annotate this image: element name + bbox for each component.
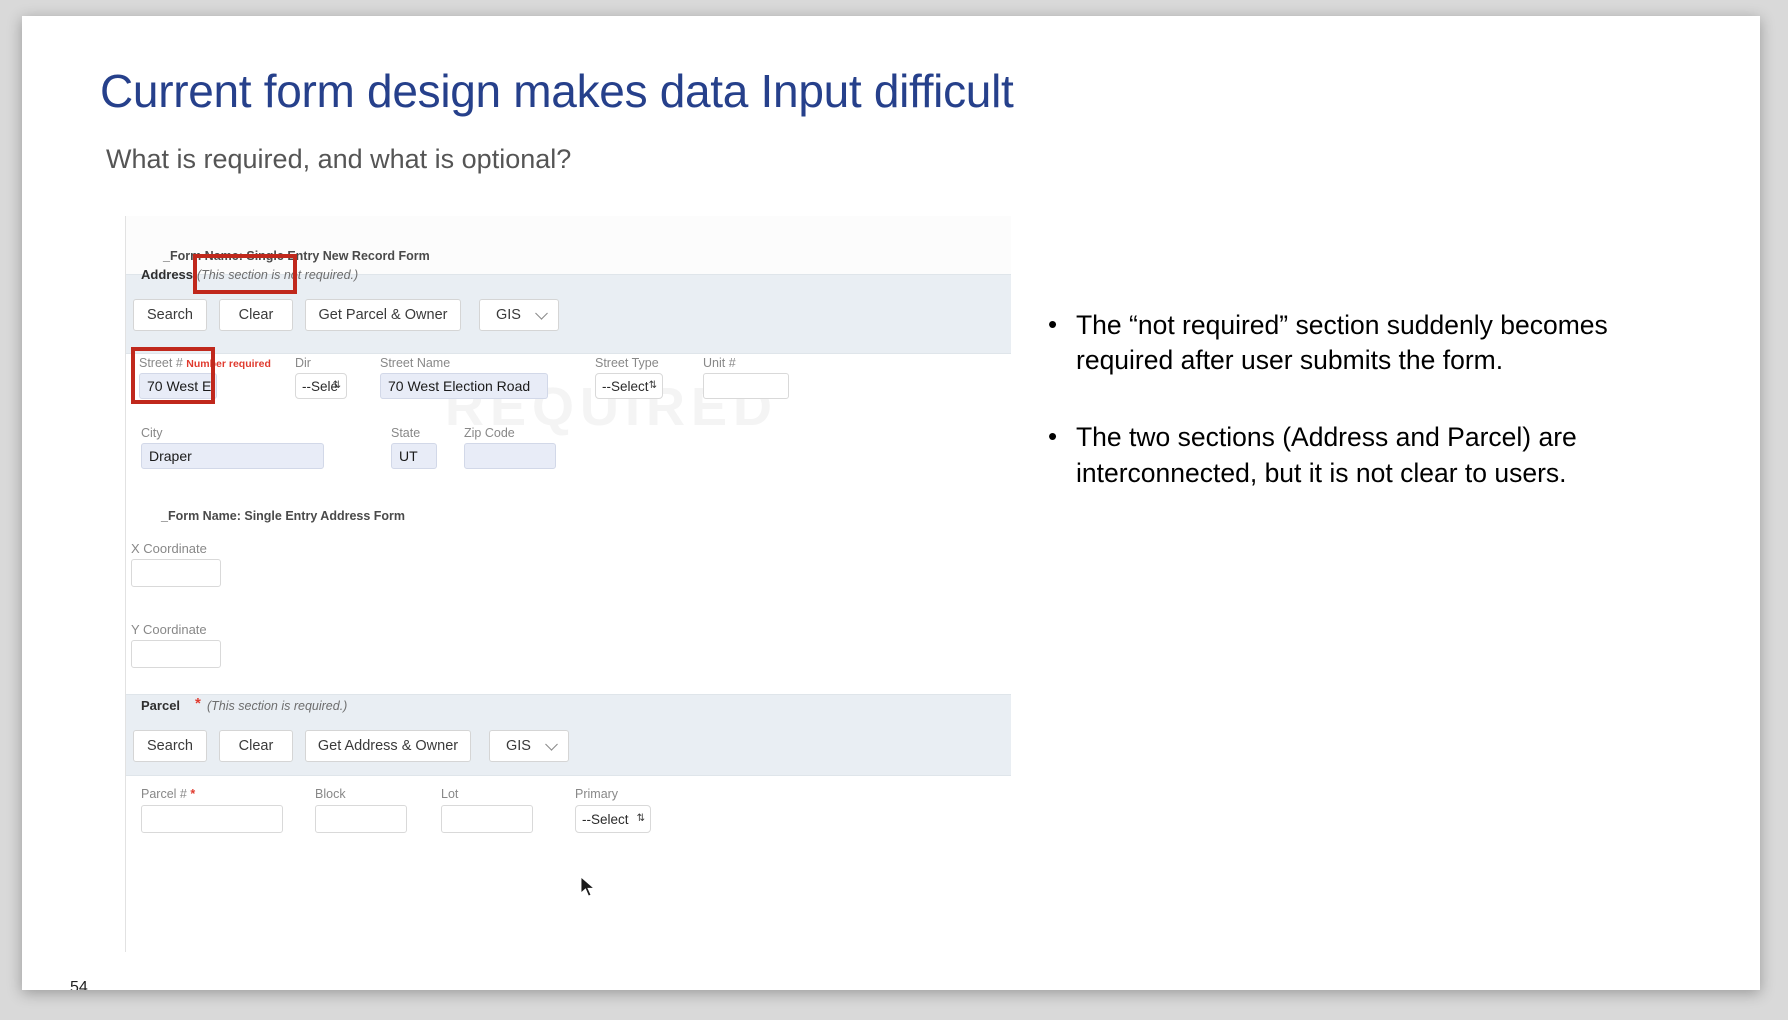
address-clear-button[interactable]: Clear — [219, 299, 293, 331]
street-name-label: Street Name — [380, 356, 450, 370]
parcel-required-marker: * — [195, 695, 201, 712]
parcel-number-required-marker: * — [190, 787, 195, 801]
slide-canvas: Current form design makes data Input dif… — [22, 16, 1760, 990]
form-screenshot: REQUIRED REQUIRED _Form Name: Single Ent… — [125, 216, 1011, 952]
x-coordinate-input[interactable] — [131, 559, 221, 587]
zip-code-label: Zip Code — [464, 426, 515, 440]
unit-number-input[interactable] — [703, 373, 789, 399]
street-name-input[interactable]: 70 West Election Road — [380, 373, 548, 399]
page-number: 54 — [70, 979, 88, 990]
parcel-number-input[interactable] — [141, 805, 283, 833]
chevron-down-icon — [545, 738, 558, 751]
street-number-required-note: Number required — [186, 358, 271, 370]
primary-select[interactable]: --Select ⇅ — [575, 805, 651, 833]
parcel-section-note: (This section is required.) — [207, 699, 347, 713]
street-number-input[interactable]: 70 West E — [139, 373, 217, 399]
city-label: City — [141, 426, 163, 440]
street-type-select[interactable]: --Select ⇅ — [595, 373, 663, 399]
street-number-label: Street # Number required — [139, 356, 271, 370]
parcel-number-label: Parcel # * — [141, 787, 195, 801]
address-gis-dropdown[interactable]: GIS — [479, 299, 559, 331]
block-input[interactable] — [315, 805, 407, 833]
primary-select-value: --Select — [582, 812, 629, 827]
address-gis-label: GIS — [496, 307, 521, 323]
address-search-button[interactable]: Search — [133, 299, 207, 331]
block-label: Block — [315, 787, 346, 801]
lot-label: Lot — [441, 787, 458, 801]
updown-arrows-icon: ⇅ — [333, 381, 341, 391]
street-type-label: Street Type — [595, 356, 659, 370]
get-address-owner-button[interactable]: Get Address & Owner — [305, 730, 471, 762]
page-subtitle: What is required, and what is optional? — [106, 144, 571, 175]
updown-arrows-icon: ⇅ — [649, 381, 657, 391]
dir-label: Dir — [295, 356, 311, 370]
lot-input[interactable] — [441, 805, 533, 833]
primary-label: Primary — [575, 787, 618, 801]
parcel-clear-button[interactable]: Clear — [219, 730, 293, 762]
chevron-down-icon — [535, 307, 548, 320]
address-section-title: Address — [141, 267, 193, 282]
bullet-list: The “not required” section suddenly beco… — [1042, 308, 1702, 533]
state-input[interactable]: UT — [391, 443, 437, 469]
parcel-gis-label: GIS — [506, 738, 531, 754]
y-coordinate-input[interactable] — [131, 640, 221, 668]
get-parcel-owner-button[interactable]: Get Parcel & Owner — [305, 299, 461, 331]
list-item: The “not required” section suddenly beco… — [1042, 308, 1702, 378]
record-form-name: _Form Name: Single Entry New Record Form — [163, 249, 430, 263]
state-label: State — [391, 426, 420, 440]
unit-number-label: Unit # — [703, 356, 736, 370]
address-section-note: (This section is not required.) — [197, 268, 358, 282]
updown-arrows-icon: ⇅ — [637, 814, 645, 824]
address-form-name: _Form Name: Single Entry Address Form — [161, 509, 405, 523]
street-type-select-value: --Select — [602, 379, 649, 394]
city-input[interactable]: Draper — [141, 443, 324, 469]
dir-select[interactable]: --Sele ⇅ — [295, 373, 347, 399]
x-coordinate-label: X Coordinate — [131, 541, 207, 556]
mouse-cursor-icon — [580, 876, 598, 898]
parcel-gis-dropdown[interactable]: GIS — [489, 730, 569, 762]
list-item: The two sections (Address and Parcel) ar… — [1042, 420, 1702, 490]
form-top-bar — [126, 216, 1011, 275]
page-title: Current form design makes data Input dif… — [100, 64, 1013, 118]
parcel-section-title: Parcel — [141, 698, 180, 713]
parcel-search-button[interactable]: Search — [133, 730, 207, 762]
y-coordinate-label: Y Coordinate — [131, 622, 207, 637]
zip-code-input[interactable] — [464, 443, 556, 469]
